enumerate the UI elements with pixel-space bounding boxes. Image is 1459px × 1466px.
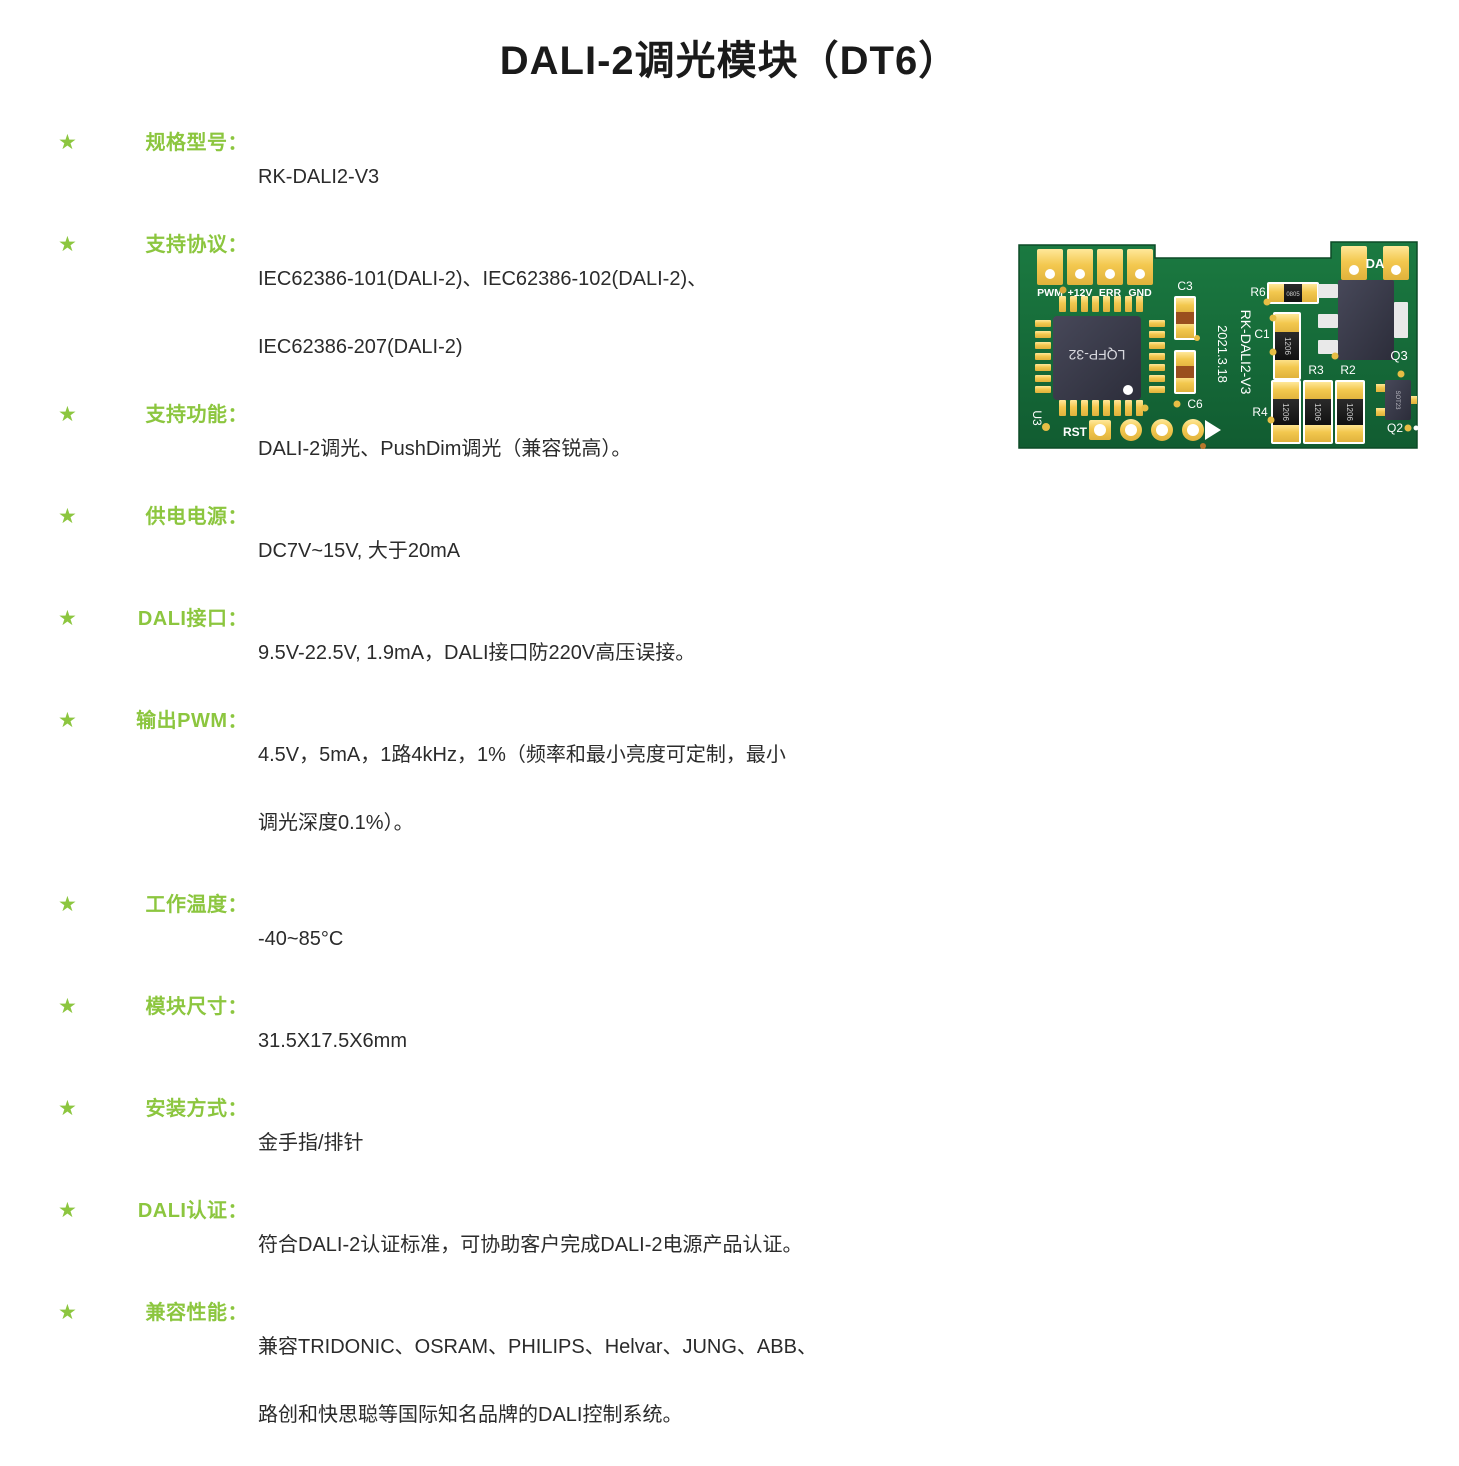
spec-value-line: 4.5V，5mA，1路4kHz，1%（频率和最小亮度可定制，最小 bbox=[258, 738, 958, 772]
spec-value: RK-DALI2-V3 bbox=[258, 126, 958, 228]
spec-value: -40~85°C bbox=[258, 888, 958, 990]
spec-value: DC7V~15V, 大于20mA bbox=[258, 500, 958, 602]
spec-value-line: 31.5X17.5X6mm bbox=[258, 1024, 958, 1058]
component-r2: 1206 bbox=[1335, 380, 1365, 444]
spec-value: 金手指/排针 bbox=[258, 1092, 958, 1194]
spec-value-line: 9.5V-22.5V, 1.9mA，DALI接口防220V高压误接。 bbox=[258, 636, 958, 670]
spec-value: IEC62386-101(DALI-2)、IEC62386-102(DALI-2… bbox=[258, 228, 958, 398]
component-r6: 0805 bbox=[1267, 282, 1319, 304]
designator-c6: C6 bbox=[1187, 397, 1203, 411]
spec-row: ★ 工作温度： -40~85°C bbox=[58, 888, 958, 990]
spec-value: 4.5V，5mA，1路4kHz，1%（频率和最小亮度可定制，最小 调光深度0.1… bbox=[258, 704, 958, 874]
chip-marking: LQFP-32 bbox=[1068, 347, 1125, 363]
designator-q3: Q3 bbox=[1390, 348, 1407, 363]
svg-text:1206: 1206 bbox=[1345, 403, 1354, 421]
star-icon: ★ bbox=[58, 602, 88, 636]
spec-value-line: 路创和快思聪等国际知名品牌的DALI控制系统。 bbox=[258, 1398, 958, 1432]
silkscreen-part-number: RK-DALI2-V3 bbox=[1238, 310, 1254, 395]
designator-r2: R2 bbox=[1340, 363, 1356, 377]
designator-r3: R3 bbox=[1308, 363, 1324, 377]
spec-label: DALI接口： bbox=[88, 602, 248, 636]
designator-c1: C1 bbox=[1254, 327, 1270, 341]
spec-value-line: 调光深度0.1%）。 bbox=[258, 806, 958, 840]
designator-q2: Q2 bbox=[1387, 421, 1403, 435]
svg-text:1206: 1206 bbox=[1313, 403, 1322, 421]
component-c6 bbox=[1174, 350, 1196, 394]
spec-value-line: RK-DALI2-V3 bbox=[258, 160, 958, 194]
spec-list: ★ 规格型号： RK-DALI2-V3 ★ 支持协议： IEC62386-101… bbox=[58, 126, 958, 1466]
spec-value-line: 金手指/排针 bbox=[258, 1126, 958, 1160]
spec-value: 31.5X17.5X6mm bbox=[258, 990, 958, 1092]
star-icon: ★ bbox=[58, 500, 88, 534]
chip-pin1-dot bbox=[1123, 385, 1133, 395]
spec-label: 规格型号： bbox=[88, 126, 248, 160]
spec-row: ★ 支持功能： DALI-2调光、PushDim调光（兼容锐高）。 bbox=[58, 398, 958, 500]
star-icon: ★ bbox=[58, 1296, 88, 1330]
spec-row: ★ 支持协议： IEC62386-101(DALI-2)、IEC62386-10… bbox=[58, 228, 958, 398]
spec-label: 支持协议： bbox=[88, 228, 248, 262]
spec-label: 输出PWM： bbox=[88, 704, 248, 738]
spec-row: ★ 模块尺寸： 31.5X17.5X6mm bbox=[58, 990, 958, 1092]
svg-text:1206: 1206 bbox=[1283, 337, 1292, 355]
spec-row: ★ DALI接口： 9.5V-22.5V, 1.9mA，DALI接口防220V高… bbox=[58, 602, 958, 704]
spec-row: ★ DALI认证： 符合DALI-2认证标准，可协助客户完成DALI-2电源产品… bbox=[58, 1194, 958, 1296]
star-icon: ★ bbox=[58, 888, 88, 922]
designator-u3: U3 bbox=[1030, 410, 1044, 426]
star-icon: ★ bbox=[58, 228, 88, 262]
star-icon: ★ bbox=[58, 398, 88, 432]
spec-sheet-page: DALI-2调光模块（DT6） ★ 规格型号： RK-DALI2-V3 ★ 支持… bbox=[0, 0, 1459, 792]
spec-value: DALI-2调光、PushDim调光（兼容锐高）。 bbox=[258, 398, 958, 500]
section-gap bbox=[58, 874, 958, 888]
spec-value-line: DALI-2调光、PushDim调光（兼容锐高）。 bbox=[258, 432, 958, 466]
spec-label: 供电电源： bbox=[88, 500, 248, 534]
designator-c3: C3 bbox=[1177, 279, 1193, 293]
component-c3 bbox=[1174, 296, 1196, 340]
star-icon: ★ bbox=[58, 1092, 88, 1126]
silkscreen-date-code: 2021.3.18 bbox=[1215, 325, 1230, 383]
component-r3: 1206 bbox=[1303, 380, 1333, 444]
spec-row: ★ 供电电源： DC7V~15V, 大于20mA bbox=[58, 500, 958, 602]
svg-text:1206: 1206 bbox=[1281, 403, 1290, 421]
star-icon: ★ bbox=[58, 990, 88, 1024]
spec-label: 工作温度： bbox=[88, 888, 248, 922]
spec-value: 兼容TRIDONIC、OSRAM、PHILIPS、Helvar、JUNG、ABB… bbox=[258, 1296, 958, 1466]
designator-r6: R6 bbox=[1250, 285, 1266, 299]
spec-value-line: 符合DALI-2认证标准，可协助客户完成DALI-2电源产品认证。 bbox=[258, 1228, 958, 1262]
spec-value-line: IEC62386-101(DALI-2)、IEC62386-102(DALI-2… bbox=[258, 262, 958, 296]
spec-value: 9.5V-22.5V, 1.9mA，DALI接口防220V高压误接。 bbox=[258, 602, 958, 704]
star-icon: ★ bbox=[58, 126, 88, 160]
designator-rst: RST bbox=[1063, 425, 1088, 439]
designator-r4: R4 bbox=[1252, 405, 1268, 419]
spec-value-line: IEC62386-207(DALI-2) bbox=[258, 330, 958, 364]
spec-label: 支持功能： bbox=[88, 398, 248, 432]
page-title: DALI-2调光模块（DT6） bbox=[0, 28, 1459, 86]
component-r4: 1206 bbox=[1271, 380, 1301, 444]
spec-value-line: 兼容TRIDONIC、OSRAM、PHILIPS、Helvar、JUNG、ABB… bbox=[258, 1330, 958, 1364]
svg-text:SOT23: SOT23 bbox=[1394, 390, 1400, 410]
spec-value-line: -40~85°C bbox=[258, 922, 958, 956]
svg-text:0805: 0805 bbox=[1286, 292, 1300, 298]
spec-label: 模块尺寸： bbox=[88, 990, 248, 1024]
star-icon: ★ bbox=[58, 704, 88, 738]
component-c1: 1206 bbox=[1273, 312, 1301, 380]
spec-label: DALI认证： bbox=[88, 1194, 248, 1228]
spec-label: 兼容性能： bbox=[88, 1296, 248, 1330]
spec-label: 安装方式： bbox=[88, 1092, 248, 1126]
spec-row: ★ 兼容性能： 兼容TRIDONIC、OSRAM、PHILIPS、Helvar、… bbox=[58, 1296, 958, 1466]
pcb-product-image: PWM +12V ERR GND DA bbox=[1015, 232, 1421, 464]
spec-row: ★ 输出PWM： 4.5V，5mA，1路4kHz，1%（频率和最小亮度可定制，最… bbox=[58, 704, 958, 874]
spec-row: ★ 安装方式： 金手指/排针 bbox=[58, 1092, 958, 1194]
spec-value: 符合DALI-2认证标准，可协助客户完成DALI-2电源产品认证。 bbox=[258, 1194, 958, 1296]
spec-value-line: DC7V~15V, 大于20mA bbox=[258, 534, 958, 568]
spec-row: ★ 规格型号： RK-DALI2-V3 bbox=[58, 126, 958, 228]
star-icon: ★ bbox=[58, 1194, 88, 1228]
dali-pad-label: DA bbox=[1366, 256, 1385, 271]
